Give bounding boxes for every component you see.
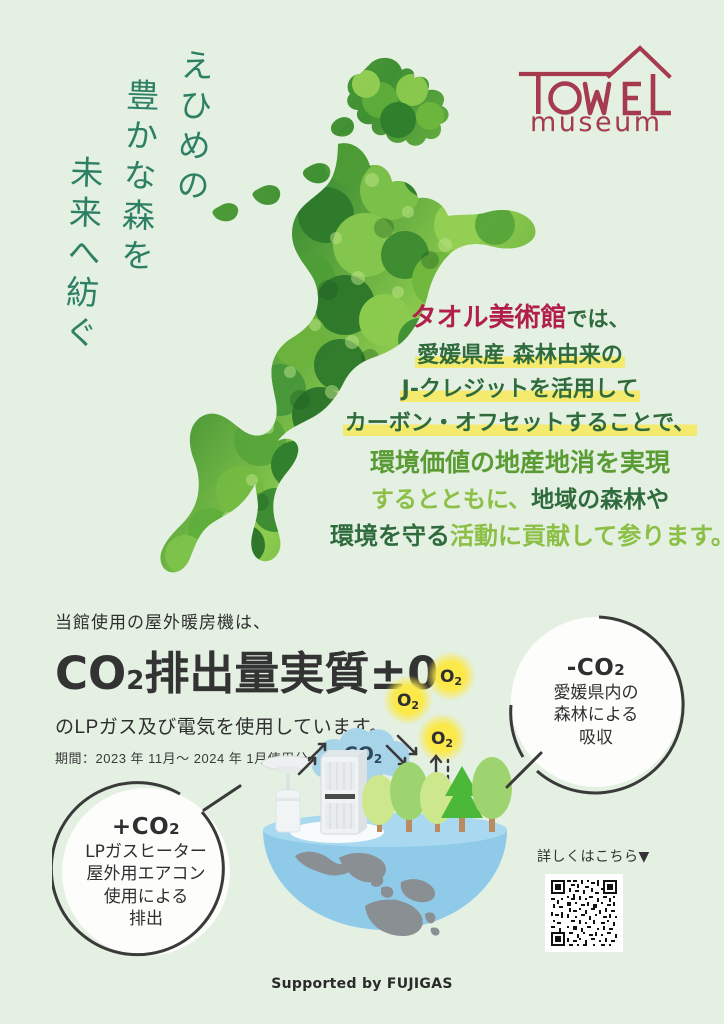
bubble-absorption-line1: 愛媛県内の: [554, 682, 639, 704]
bubble-emission-line1: LPガスヒーター: [85, 841, 207, 863]
outdoor-air-conditioner-icon: [321, 750, 367, 834]
paragraph-line7-a: 環境を守る: [330, 522, 450, 550]
mission-paragraph: タオル美術館では、 愛媛県産 森林由来の J-クレジットを活用して カーボン・オ…: [330, 300, 710, 556]
co2-lead-text: 当館使用の屋外暖房機は、: [55, 608, 455, 633]
svg-text:museum: museum: [530, 107, 663, 133]
bubble-emission-line4: 排出: [129, 908, 163, 930]
qr-code[interactable]: [545, 874, 623, 952]
paragraph-line7-b: 活動に貢献して参ります。: [450, 522, 724, 550]
paragraph-line6-b: 地域の森林や: [531, 487, 669, 513]
paragraph-line4: カーボン・オフセットすることで、: [343, 411, 697, 436]
paragraph-line6-a: するとともに、: [371, 487, 531, 513]
bubble-emission: +CO2 LPガスヒーター 屋外用エアコン 使用による 排出: [62, 788, 230, 956]
bubble-emission-line2: 屋外用エアコン: [87, 863, 206, 885]
footer-credit: Supported by FUJIGAS: [0, 976, 724, 992]
bubble-emission-heading-pre: +CO: [112, 814, 169, 840]
co2-headline-sub: 2: [126, 666, 144, 696]
bubble-absorption-heading-sub: 2: [614, 661, 625, 679]
qr-label: 詳しくはこちら▼: [537, 846, 650, 866]
bubble-absorption-line2: 森林による: [554, 704, 639, 726]
co2-headline-pre: CO: [55, 647, 126, 700]
poster-root: museum えひめの 豊かな森を 未来へ紡ぐ: [0, 0, 724, 1024]
paragraph-line1-suffix: では、: [567, 307, 630, 331]
vertical-headline-column-3: 未来へ紡ぐ: [54, 154, 109, 356]
paragraph-line3: J-クレジットを活用して: [400, 377, 641, 402]
bubble-absorption-heading-pre: -CO: [567, 655, 614, 681]
bubble-absorption-line3: 吸収: [579, 727, 613, 749]
bubble-emission-heading: +CO2: [112, 814, 180, 840]
paragraph-line2: 愛媛県産 森林由来の: [415, 343, 625, 368]
bubble-emission-heading-sub: 2: [169, 820, 180, 838]
bubble-emission-line3: 使用による: [104, 886, 189, 908]
paragraph-line5: 環境価値の地産地消を実現: [330, 445, 710, 482]
bubble-absorption-heading: -CO2: [567, 655, 625, 681]
paragraph-line1-brand: タオル美術館: [410, 303, 566, 333]
bubble-absorption: -CO2 愛媛県内の 森林による 吸収: [511, 617, 681, 787]
carbon-offset-illustration: O2 O2 O2 CO2: [255, 648, 515, 948]
